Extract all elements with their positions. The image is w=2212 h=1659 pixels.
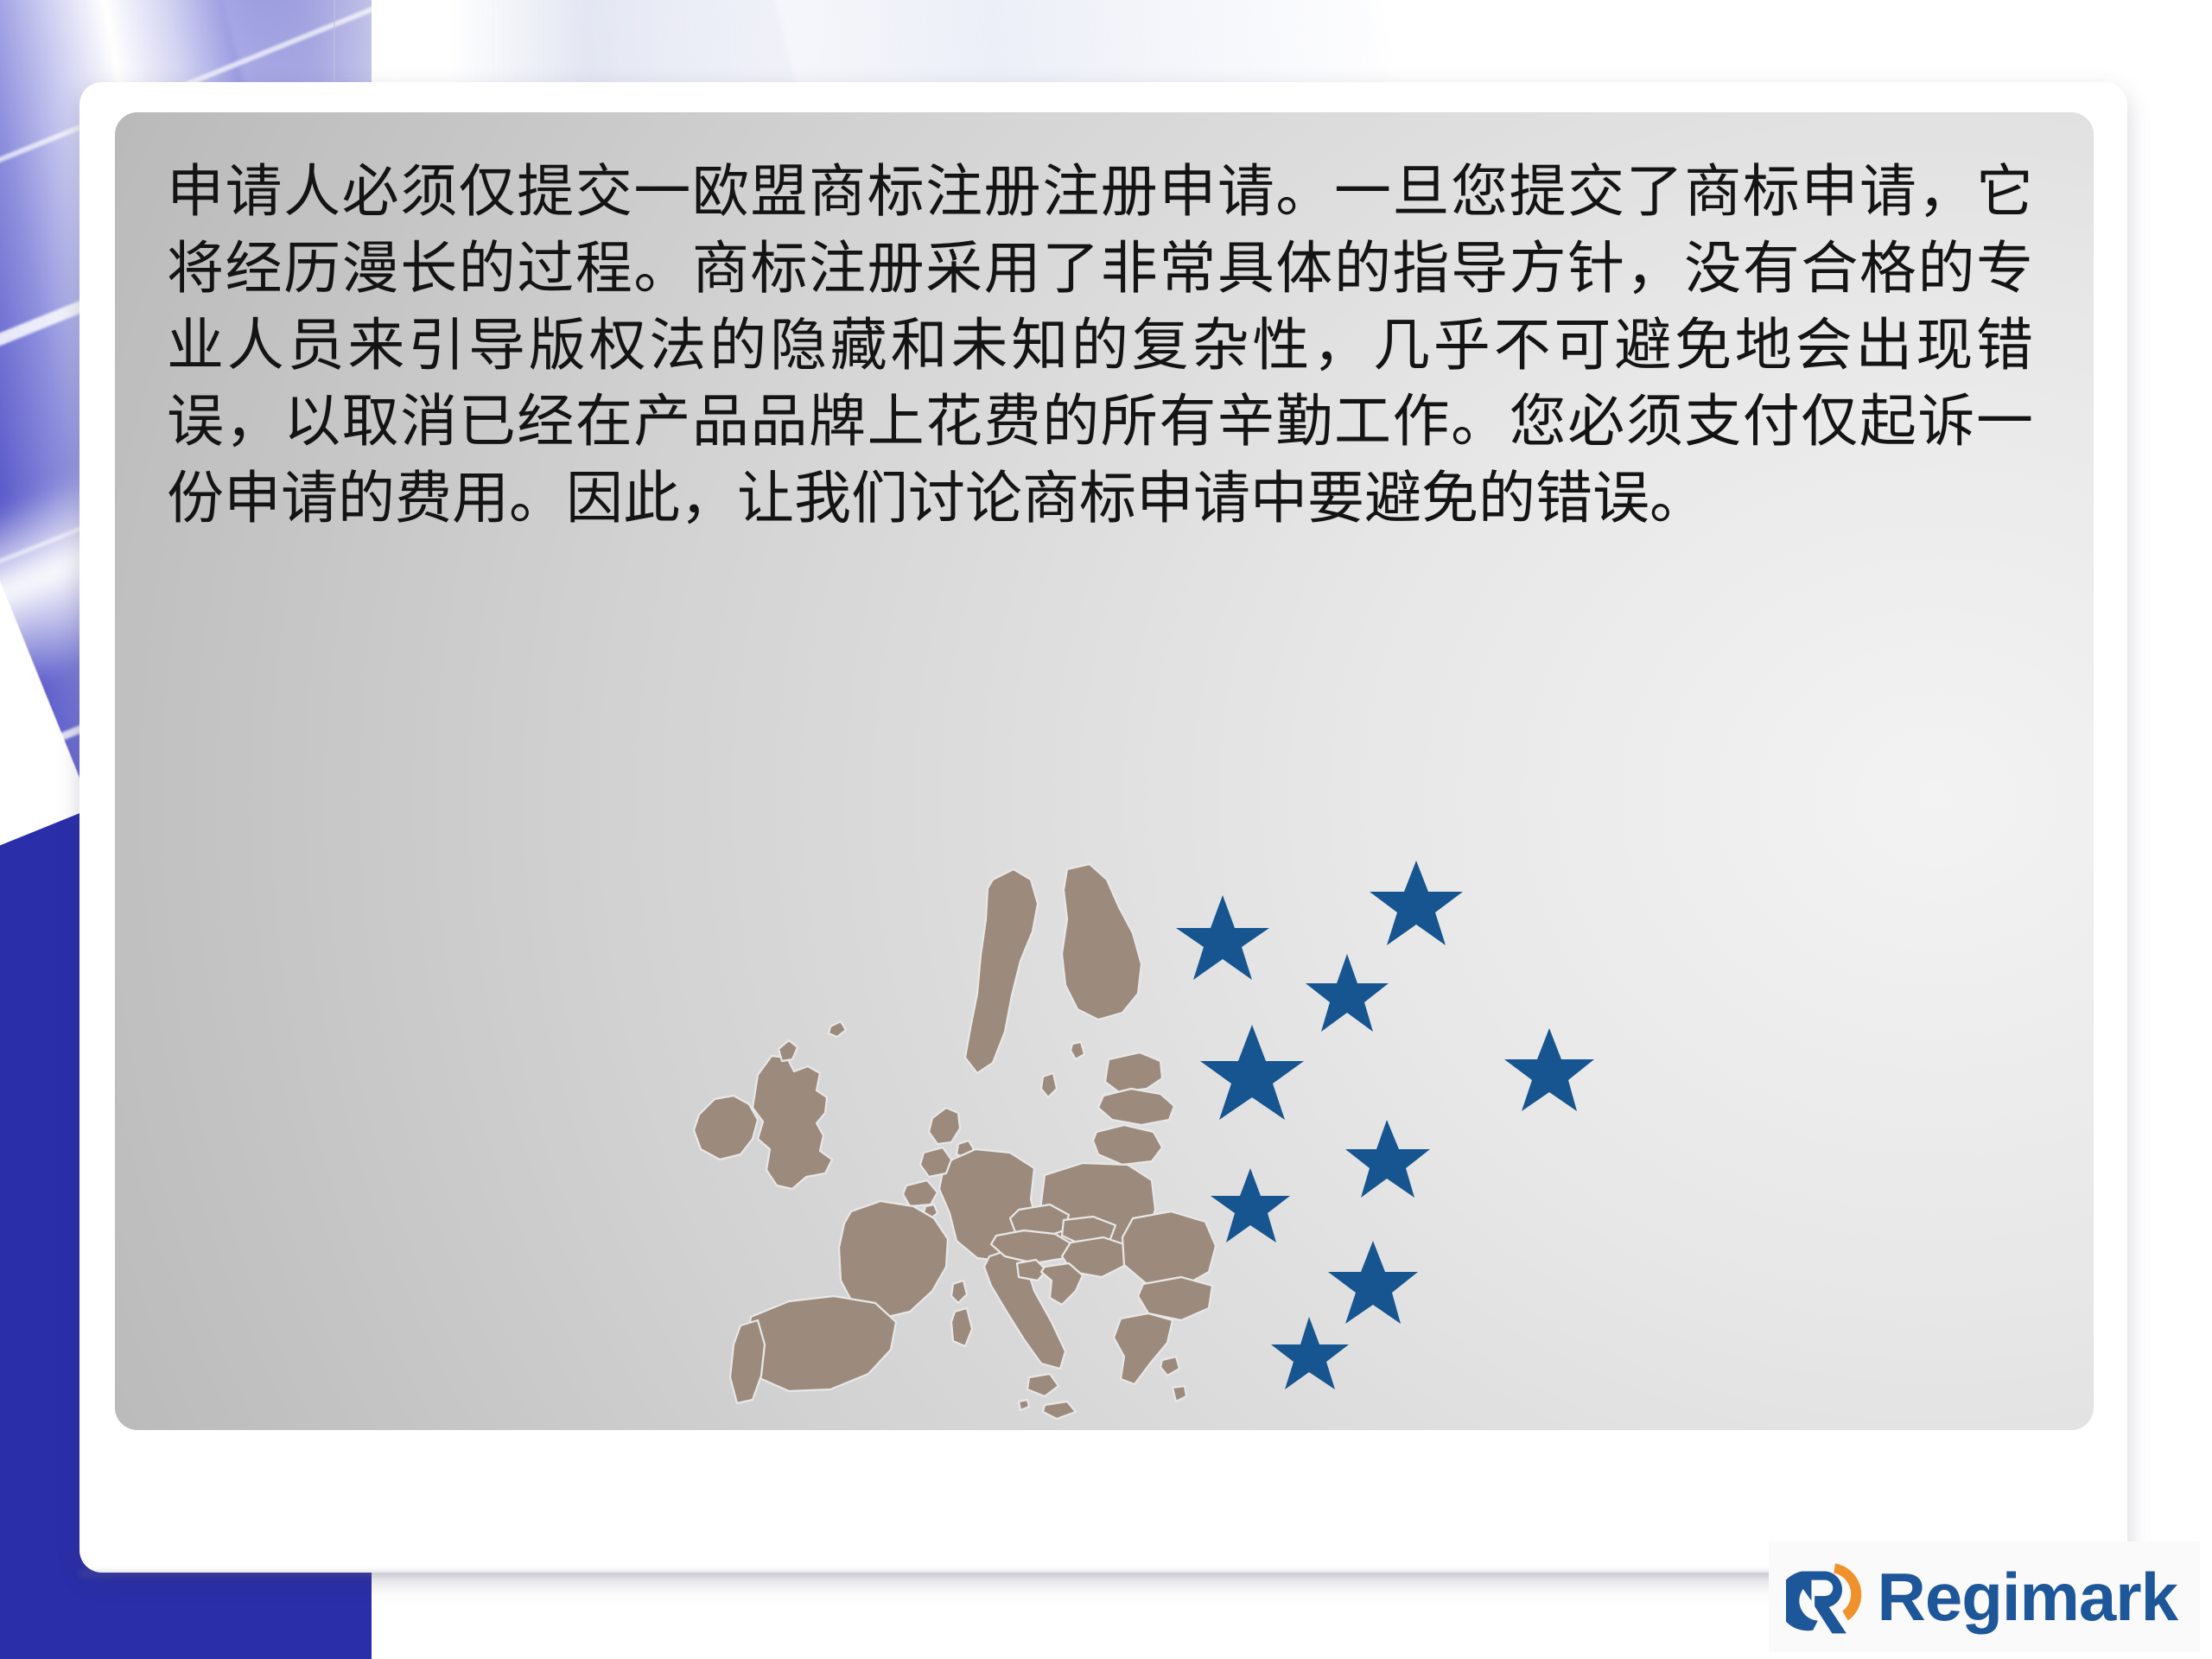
eu-star (1504, 1028, 1594, 1111)
slide-body-text: 申请人必须仅提交一欧盟商标注册注册申请。一旦您提交了商标申请，它将经历漫长的过程… (167, 154, 2033, 537)
eu-stars-group (1160, 847, 1653, 1408)
regimark-r-monogram-icon (1786, 1557, 1866, 1637)
eu-star (1271, 1317, 1349, 1389)
eu-star (1200, 1025, 1304, 1120)
content-panel: 申请人必须仅提交一欧盟商标注册注册申请。一旦您提交了商标申请，它将经历漫长的过程… (115, 112, 2094, 1430)
eu-star (1306, 954, 1389, 1032)
card-shadow (79, 1571, 2058, 1580)
eu-star (1176, 895, 1269, 980)
eu-star (1345, 1120, 1430, 1198)
regimark-wordmark: Regimark (1878, 1563, 2178, 1630)
european-union-graphic (651, 855, 1653, 1426)
eu-star (1328, 1241, 1418, 1324)
presentation-slide: 申请人必须仅提交一欧盟商标注册注册申请。一旦您提交了商标申请，它将经历漫长的过程… (0, 0, 2212, 1659)
eu-star (1211, 1168, 1290, 1243)
regimark-logo[interactable]: Regimark (1769, 1541, 2201, 1652)
eu-star (1370, 861, 1463, 945)
